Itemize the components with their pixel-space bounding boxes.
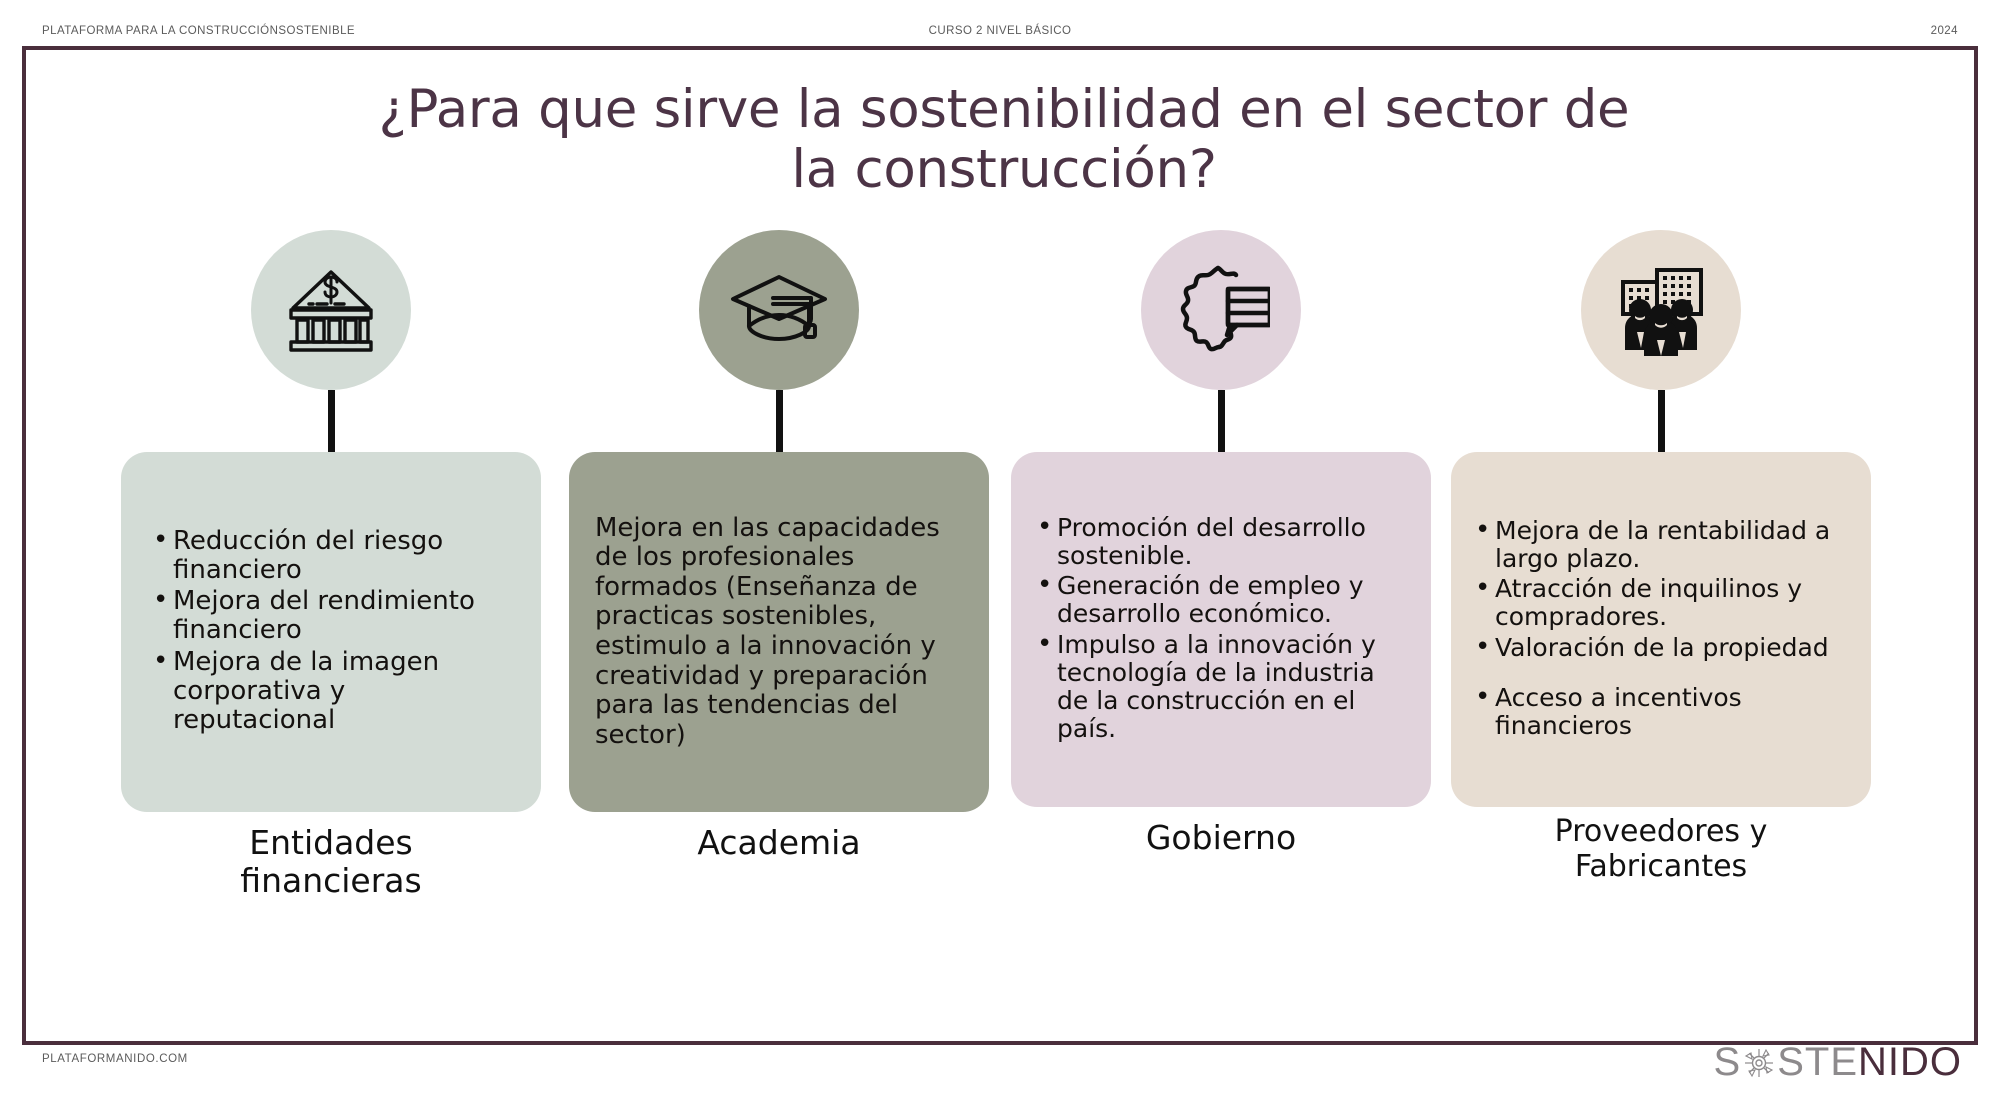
list-item: Generación de empleo y desarrollo económ… xyxy=(1035,572,1411,629)
colombia-map-icon xyxy=(1172,262,1270,358)
column-gobierno: Promoción del desarrollo sostenible. Gen… xyxy=(1011,230,1431,857)
card-label-gobierno: Gobierno xyxy=(1146,819,1296,857)
icon-circle-gobierno xyxy=(1141,230,1301,390)
list-item: Reducción del riesgo financiero xyxy=(151,527,515,585)
list-item: Acceso a incentivos financieros xyxy=(1473,684,1853,741)
bank-dollar-icon xyxy=(283,264,379,356)
sostenido-logo: S xyxy=(1714,1040,1962,1085)
card-academia: Mejora en las capacidades de los profesi… xyxy=(569,452,989,812)
column-proveedores-y-fabricantes: Mejora de la rentabilidad a largo plazo.… xyxy=(1451,230,1871,884)
column-academia: Mejora en las capacidades de los profesi… xyxy=(569,230,989,862)
slide-frame: ¿Para que sirve la sostenibilidad en el … xyxy=(22,46,1978,1045)
card-label-proveedores-y-fabricantes: Proveedores y Fabricantes xyxy=(1555,815,1768,884)
card-label-line1: Academia xyxy=(697,824,860,862)
card-label-line2: Fabricantes xyxy=(1555,850,1768,885)
topbar-year-label: 2024 xyxy=(1931,25,1958,37)
topbar-center-label: CURSO 2 NIVEL BÁSICO xyxy=(0,25,2000,37)
bullet-list-entidades-financieras: Reducción del riesgo financiero Mejora d… xyxy=(151,527,515,735)
footer-url: PLATAFORMANIDO.COM xyxy=(42,1053,188,1065)
bullet-list-gobierno: Promoción del desarrollo sostenible. Gen… xyxy=(1035,514,1411,744)
slide: PLATAFORMA PARA LA CONSTRUCCIÓNSOSTENIBL… xyxy=(0,0,2000,1113)
card-label-line1: Entidades xyxy=(240,824,421,862)
list-item: Valoración de la propiedad xyxy=(1473,634,1853,662)
columns-container: Reducción del riesgo financiero Mejora d… xyxy=(26,50,1982,1049)
list-item: Impulso a la innovación y tecnología de … xyxy=(1035,631,1411,744)
card-entidades-financieras: Reducción del riesgo financiero Mejora d… xyxy=(121,452,541,812)
business-people-icon xyxy=(1611,262,1711,358)
graduation-cap-icon xyxy=(729,269,829,351)
icon-circle-entidades-financieras xyxy=(251,230,411,390)
card-label-academia: Academia xyxy=(697,824,860,862)
card-label-line2: financieras xyxy=(240,862,421,900)
connector-stem xyxy=(328,390,335,452)
list-item: Promoción del desarrollo sostenible. xyxy=(1035,514,1411,571)
card-label-line1: Proveedores y xyxy=(1555,815,1768,850)
logo-part3: NIDO xyxy=(1858,1040,1962,1085)
bullet-list-proveedores-y-fabricantes: Mejora de la rentabilidad a largo plazo.… xyxy=(1473,517,1853,741)
topbar: PLATAFORMA PARA LA CONSTRUCCIÓNSOSTENIBL… xyxy=(0,20,2000,42)
paragraph-academia: Mejora en las capacidades de los profesi… xyxy=(595,514,967,751)
icon-circle-academia xyxy=(699,230,859,390)
logo-part1: S xyxy=(1714,1040,1742,1085)
connector-stem xyxy=(1218,390,1225,452)
card-proveedores-y-fabricantes: Mejora de la rentabilidad a largo plazo.… xyxy=(1451,452,1871,807)
icon-circle-proveedores-y-fabricantes xyxy=(1581,230,1741,390)
connector-stem xyxy=(1658,390,1665,452)
list-item: Mejora del rendimiento financiero xyxy=(151,587,515,645)
card-gobierno: Promoción del desarrollo sostenible. Gen… xyxy=(1011,452,1431,807)
logo-part2: STE xyxy=(1777,1040,1858,1085)
gear-emblem-icon xyxy=(1742,1046,1776,1080)
connector-stem xyxy=(776,390,783,452)
card-label-entidades-financieras: Entidades financieras xyxy=(240,824,421,900)
list-item: Mejora de la rentabilidad a largo plazo. xyxy=(1473,517,1853,574)
column-entidades-financieras: Reducción del riesgo financiero Mejora d… xyxy=(121,230,541,900)
list-item: Mejora de la imagen corporativa y reputa… xyxy=(151,648,515,735)
list-item: Atracción de inquilinos y compradores. xyxy=(1473,575,1853,632)
card-label-line1: Gobierno xyxy=(1146,819,1296,857)
